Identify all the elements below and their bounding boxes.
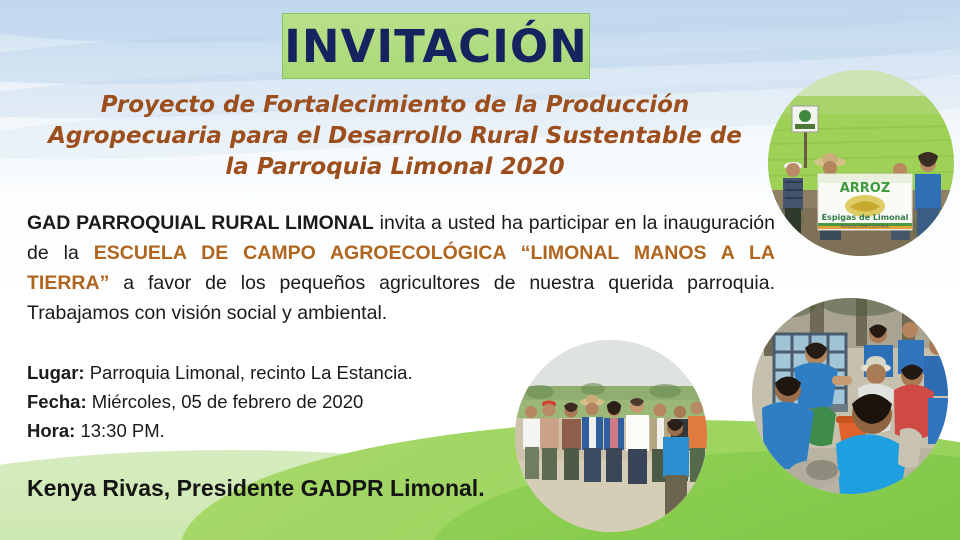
water-tank-workers-photo bbox=[752, 298, 948, 494]
detail-label: Fecha: bbox=[27, 391, 87, 412]
signature-line: Kenya Rivas, Presidente GADPR Limonal. bbox=[27, 475, 485, 502]
organization-name: GAD PARROQUIAL RURAL LIMONAL bbox=[27, 212, 374, 234]
invitation-poster: INVITACIÓN Proyecto de Fortalecimiento d… bbox=[0, 0, 960, 540]
body-text-part-2: a favor de los pequeños agricultores de … bbox=[27, 272, 775, 324]
svg-text:PRODUCCION CULTURAL: PRODUCCION CULTURAL bbox=[841, 224, 891, 229]
detail-row-date: Fecha: Miércoles, 05 de febrero de 2020 bbox=[27, 387, 413, 416]
detail-label: Hora: bbox=[27, 420, 75, 441]
project-subtitle: Proyecto de Fortalecimiento de la Produc… bbox=[30, 90, 760, 183]
event-details: Lugar: Parroquia Limonal, recinto La Est… bbox=[27, 358, 413, 445]
page-title: INVITACIÓN bbox=[284, 24, 588, 69]
water-tank-workers-image bbox=[752, 298, 948, 494]
detail-row-place: Lugar: Parroquia Limonal, recinto La Est… bbox=[27, 358, 413, 387]
subtitle-line: la Parroquia Limonal 2020 bbox=[30, 152, 760, 183]
invitation-title-box: INVITACIÓN bbox=[282, 13, 590, 79]
farmers-group-image bbox=[515, 340, 707, 532]
detail-label: Lugar: bbox=[27, 362, 85, 383]
subtitle-line: Agropecuaria para el Desarrollo Rural Su… bbox=[30, 121, 760, 152]
svg-text:ARROZ: ARROZ bbox=[840, 181, 891, 196]
invitation-body: GAD PARROQUIAL RURAL LIMONAL invita a us… bbox=[27, 208, 775, 328]
rice-field-banner-photo: ARROZ Espigas de Limonal PRODUCCION CULT… bbox=[768, 70, 954, 256]
farmers-group-photo bbox=[515, 340, 707, 532]
detail-value: Miércoles, 05 de febrero de 2020 bbox=[87, 391, 364, 412]
svg-text:Espigas de Limonal: Espigas de Limonal bbox=[822, 213, 909, 222]
rice-field-banner-image: ARROZ Espigas de Limonal PRODUCCION CULT… bbox=[768, 70, 954, 256]
subtitle-line: Proyecto de Fortalecimiento de la Produc… bbox=[30, 90, 760, 121]
detail-value: 13:30 PM. bbox=[75, 420, 164, 441]
detail-value: Parroquia Limonal, recinto La Estancia. bbox=[85, 362, 413, 383]
detail-row-time: Hora: 13:30 PM. bbox=[27, 416, 413, 445]
